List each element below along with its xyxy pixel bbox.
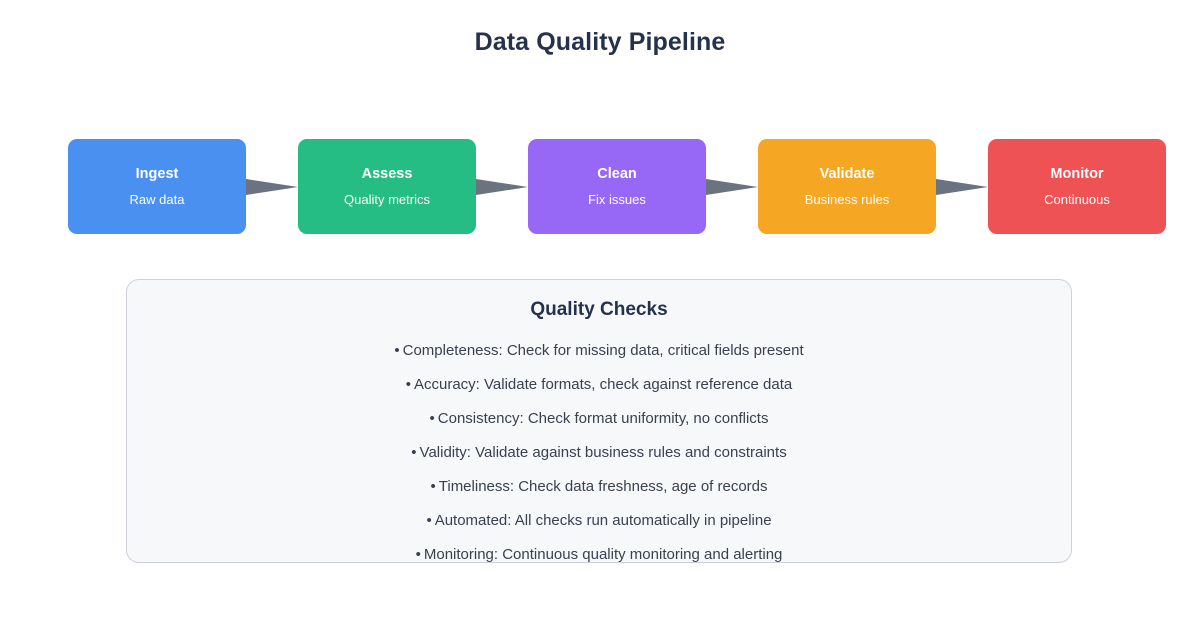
quality-checks-list: •Completeness: Check for missing data, c… [127, 343, 1071, 562]
stage-subtitle: Continuous [1044, 193, 1110, 206]
quality-check-text: Completeness: Check for missing data, cr… [403, 342, 804, 359]
quality-checks-panel: Quality Checks •Completeness: Check for … [126, 279, 1072, 563]
quality-check-item: •Timeliness: Check data freshness, age o… [127, 479, 1071, 494]
pipeline-stage-monitor[interactable]: MonitorContinuous [988, 139, 1166, 234]
stage-subtitle: Business rules [805, 193, 890, 206]
bullet-icon: • [394, 342, 399, 359]
stage-title: Monitor [1050, 167, 1103, 182]
stage-title: Ingest [136, 167, 179, 182]
stage-subtitle: Raw data [130, 193, 185, 206]
bullet-icon: • [430, 478, 435, 495]
stage-title: Clean [597, 167, 637, 182]
quality-check-item: •Monitoring: Continuous quality monitori… [127, 547, 1071, 562]
stage-title: Assess [362, 167, 413, 182]
arrow-right-icon [476, 174, 528, 200]
quality-check-text: Monitoring: Continuous quality monitorin… [424, 546, 783, 563]
stage-subtitle: Quality metrics [344, 193, 430, 206]
pipeline-connector [936, 139, 988, 234]
bullet-icon: • [416, 546, 421, 563]
quality-check-text: Timeliness: Check data freshness, age of… [439, 478, 768, 495]
arrow-right-icon [706, 174, 758, 200]
bullet-icon: • [426, 512, 431, 529]
arrow-right-icon [936, 174, 988, 200]
page-title: Data Quality Pipeline [0, 28, 1200, 57]
quality-check-text: Validity: Validate against business rule… [420, 444, 787, 461]
bullet-icon: • [430, 410, 435, 427]
pipeline-stage-validate[interactable]: ValidateBusiness rules [758, 139, 936, 234]
quality-checks-title: Quality Checks [127, 299, 1071, 321]
pipeline-connector [246, 139, 298, 234]
quality-check-item: •Validity: Validate against business rul… [127, 445, 1071, 460]
quality-check-text: Accuracy: Validate formats, check agains… [414, 376, 792, 393]
stage-title: Validate [820, 167, 875, 182]
arrow-right-icon [246, 174, 298, 200]
stage-subtitle: Fix issues [588, 193, 646, 206]
pipeline-flow: IngestRaw dataAssessQuality metricsClean… [68, 139, 1098, 234]
pipeline-stage-assess[interactable]: AssessQuality metrics [298, 139, 476, 234]
quality-check-item: •Completeness: Check for missing data, c… [127, 343, 1071, 358]
pipeline-connector [476, 139, 528, 234]
quality-check-text: Automated: All checks run automatically … [435, 512, 772, 529]
quality-check-item: •Accuracy: Validate formats, check again… [127, 377, 1071, 392]
diagram-canvas: Data Quality Pipeline IngestRaw dataAsse… [0, 0, 1200, 630]
bullet-icon: • [406, 376, 411, 393]
pipeline-connector [706, 139, 758, 234]
quality-check-text: Consistency: Check format uniformity, no… [438, 410, 769, 427]
bullet-icon: • [411, 444, 416, 461]
quality-check-item: •Automated: All checks run automatically… [127, 513, 1071, 528]
pipeline-stage-clean[interactable]: CleanFix issues [528, 139, 706, 234]
quality-check-item: •Consistency: Check format uniformity, n… [127, 411, 1071, 426]
pipeline-stage-ingest[interactable]: IngestRaw data [68, 139, 246, 234]
